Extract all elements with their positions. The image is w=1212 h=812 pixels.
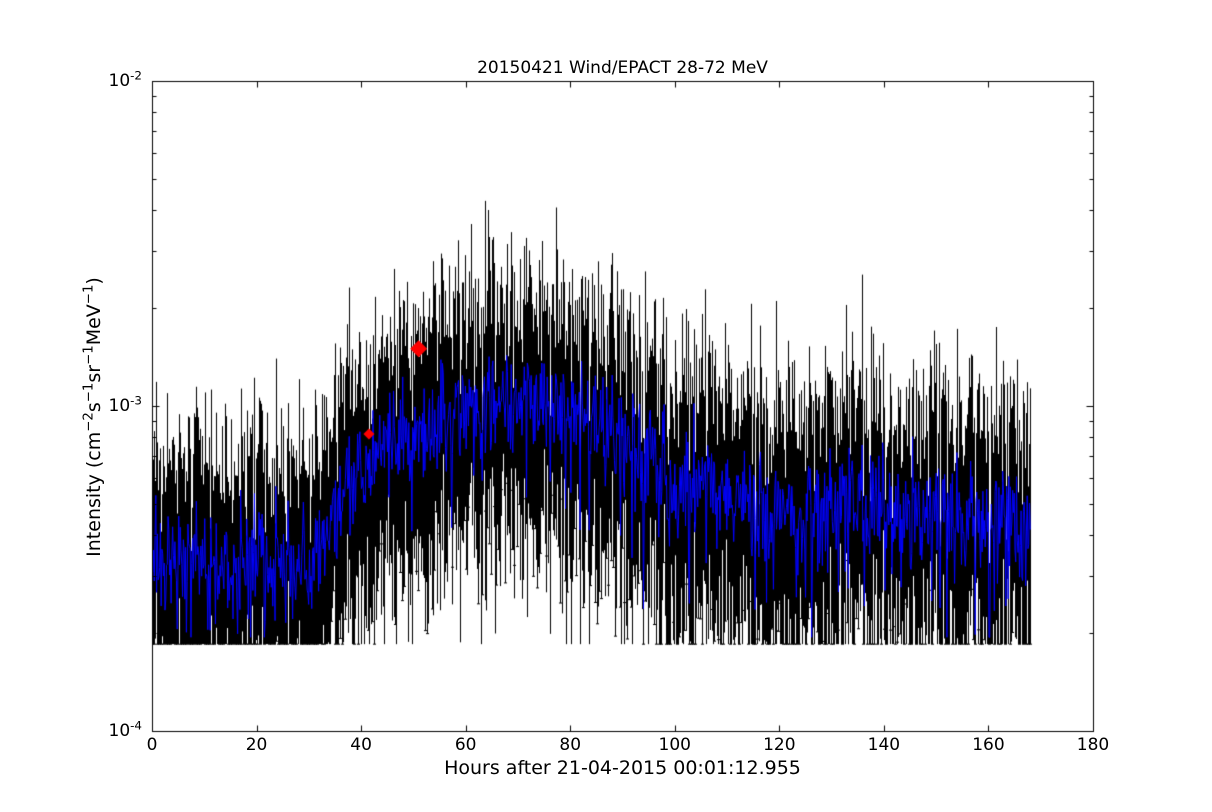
x-tick-label-80: 80 <box>559 735 581 755</box>
x-tick-label-140: 140 <box>868 735 900 755</box>
figure-canvas-container: 20150421 Wind/EPACT 28-72 MeV Hours afte… <box>0 0 1212 812</box>
x-tick-label-180: 180 <box>1077 735 1109 755</box>
x-tick-label-20: 20 <box>246 735 268 755</box>
x-tick-label-100: 100 <box>659 735 691 755</box>
x-tick-label-0: 0 <box>147 735 158 755</box>
y-tick-label--4: 10-4 <box>82 721 142 741</box>
y-tick-label--2: 10-2 <box>82 71 142 91</box>
y-tick-label--3: 10-3 <box>82 396 142 416</box>
plot-canvas <box>0 0 1212 812</box>
x-tick-label-120: 120 <box>763 735 795 755</box>
x-tick-label-40: 40 <box>350 735 372 755</box>
x-tick-label-160: 160 <box>972 735 1004 755</box>
x-tick-label-60: 60 <box>455 735 477 755</box>
